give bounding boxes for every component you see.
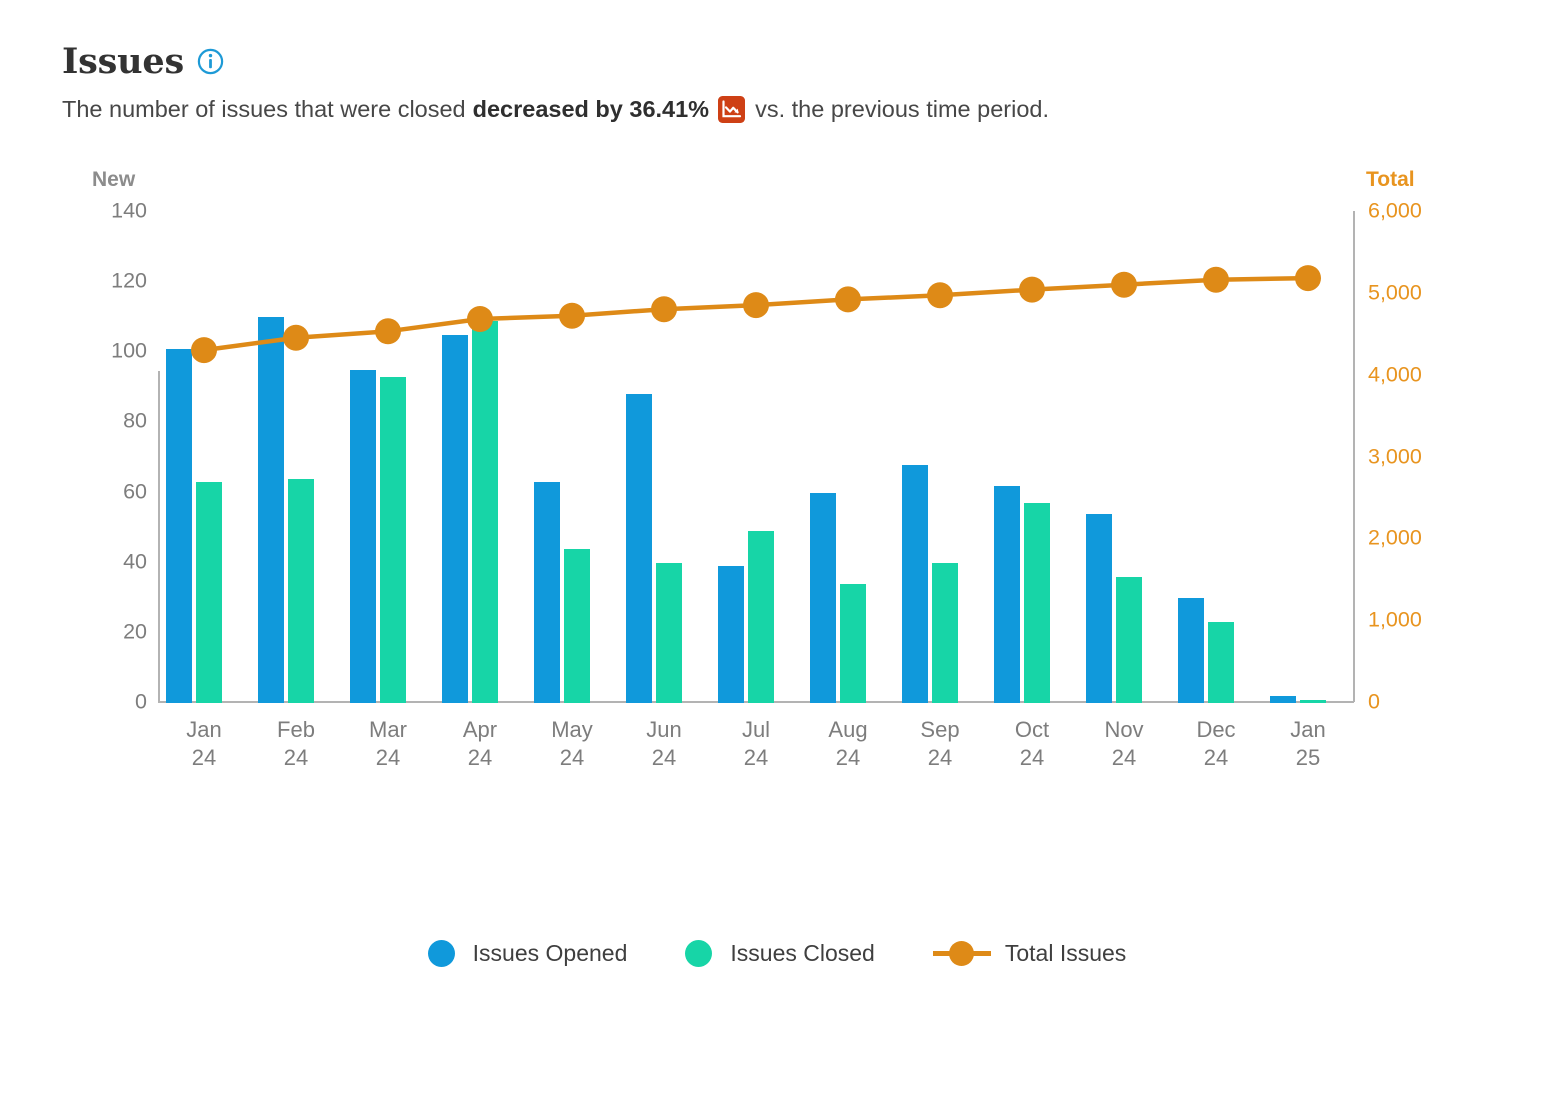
chart-legend: Issues OpenedIssues ClosedTotal Issues <box>0 940 1554 967</box>
x-tick-label: Jan24 <box>158 716 250 772</box>
legend-item[interactable]: Total Issues <box>933 940 1126 967</box>
left-tick-label: 0 <box>135 691 147 713</box>
left-tick-label: 40 <box>123 551 147 573</box>
x-tick-month: Oct <box>1015 717 1049 742</box>
x-tick-month: May <box>551 717 593 742</box>
x-tick-label: Jan25 <box>1262 716 1354 772</box>
x-tick-label: Mar24 <box>342 716 434 772</box>
subtitle-tail: vs. the previous time period. <box>755 97 1049 123</box>
right-tick-label: 6,000 <box>1368 200 1422 222</box>
right-tick-label: 4,000 <box>1368 364 1422 386</box>
x-tick-label: Nov24 <box>1078 716 1170 772</box>
x-tick-month: Jan <box>1290 717 1325 742</box>
page-title: Issues <box>62 44 184 79</box>
x-tick-label: Jun24 <box>618 716 710 772</box>
left-tick-label: 120 <box>111 270 147 292</box>
chart-header: Issues The number of issues that were cl… <box>62 44 1049 123</box>
x-tick-label: Dec24 <box>1170 716 1262 772</box>
x-tick-year: 24 <box>618 744 710 772</box>
x-tick-month: Feb <box>277 717 315 742</box>
title-row: Issues <box>62 44 1049 79</box>
legend-label: Issues Opened <box>473 940 628 967</box>
x-tick-label: Oct24 <box>986 716 1078 772</box>
x-tick-year: 24 <box>1170 744 1262 772</box>
x-tick-month: Nov <box>1104 717 1143 742</box>
x-axis-labels: Jan24Feb24Mar24Apr24May24Jun24Jul24Aug24… <box>158 716 1354 786</box>
legend-label: Total Issues <box>1005 940 1126 967</box>
x-tick-label: Apr24 <box>434 716 526 772</box>
subtitle-lead: The number of issues that were closed <box>62 97 466 123</box>
chart-area: New Total 020406080100120140 01,0002,000… <box>0 160 1554 820</box>
total-issues-point[interactable] <box>375 318 401 344</box>
issues-chart-card: Issues The number of issues that were cl… <box>0 0 1554 1118</box>
x-tick-year: 24 <box>986 744 1078 772</box>
total-issues-point[interactable] <box>1019 277 1045 303</box>
x-tick-year: 24 <box>250 744 342 772</box>
declining-chart-icon[interactable] <box>718 96 745 123</box>
legend-label: Issues Closed <box>730 940 874 967</box>
total-issues-line <box>158 211 1354 703</box>
legend-line-marker-icon <box>933 940 991 967</box>
x-tick-label: Jul24 <box>710 716 802 772</box>
x-tick-year: 25 <box>1262 744 1354 772</box>
right-tick-label: 0 <box>1368 691 1380 713</box>
total-issues-point[interactable] <box>927 282 953 308</box>
chart-subtitle: The number of issues that were closed de… <box>62 96 1049 123</box>
info-circle-icon[interactable] <box>197 48 224 75</box>
left-tick-label: 60 <box>123 481 147 503</box>
x-tick-month: Jun <box>646 717 681 742</box>
x-tick-month: Apr <box>463 717 497 742</box>
x-tick-year: 24 <box>158 744 250 772</box>
right-tick-label: 3,000 <box>1368 446 1422 468</box>
legend-swatch-icon <box>428 940 455 967</box>
left-tick-label: 140 <box>111 200 147 222</box>
total-issues-point[interactable] <box>651 296 677 322</box>
left-tick-label: 100 <box>111 341 147 363</box>
x-tick-month: Jan <box>186 717 221 742</box>
right-tick-label: 5,000 <box>1368 282 1422 304</box>
x-tick-year: 24 <box>802 744 894 772</box>
subtitle-delta: decreased by 36.41% <box>473 97 709 123</box>
x-tick-month: Sep <box>920 717 959 742</box>
x-tick-year: 24 <box>710 744 802 772</box>
x-tick-label: Feb24 <box>250 716 342 772</box>
x-tick-year: 24 <box>342 744 434 772</box>
total-issues-point[interactable] <box>1295 265 1321 291</box>
x-tick-month: Mar <box>369 717 407 742</box>
total-issues-point[interactable] <box>743 292 769 318</box>
left-tick-label: 80 <box>123 411 147 433</box>
x-tick-year: 24 <box>1078 744 1170 772</box>
right-tick-label: 2,000 <box>1368 528 1422 550</box>
right-tick-label: 1,000 <box>1368 609 1422 631</box>
left-axis-ticks: 020406080100120140 <box>0 160 147 820</box>
left-tick-label: 20 <box>123 621 147 643</box>
total-issues-point[interactable] <box>283 325 309 351</box>
x-tick-year: 24 <box>434 744 526 772</box>
total-issues-point[interactable] <box>1203 267 1229 293</box>
legend-item[interactable]: Issues Closed <box>685 940 874 967</box>
total-issues-point[interactable] <box>191 337 217 363</box>
x-tick-year: 24 <box>526 744 618 772</box>
x-tick-month: Aug <box>828 717 867 742</box>
total-issues-point[interactable] <box>559 303 585 329</box>
legend-item[interactable]: Issues Opened <box>428 940 628 967</box>
legend-swatch-icon <box>685 940 712 967</box>
x-tick-month: Dec <box>1196 717 1235 742</box>
x-tick-label: Sep24 <box>894 716 986 772</box>
total-issues-point[interactable] <box>835 286 861 312</box>
x-tick-month: Jul <box>742 717 770 742</box>
x-tick-year: 24 <box>894 744 986 772</box>
total-issues-point[interactable] <box>467 306 493 332</box>
x-tick-label: Aug24 <box>802 716 894 772</box>
right-axis-ticks: 01,0002,0003,0004,0005,0006,000 <box>1368 160 1528 820</box>
total-issues-point[interactable] <box>1111 272 1137 298</box>
x-tick-label: May24 <box>526 716 618 772</box>
